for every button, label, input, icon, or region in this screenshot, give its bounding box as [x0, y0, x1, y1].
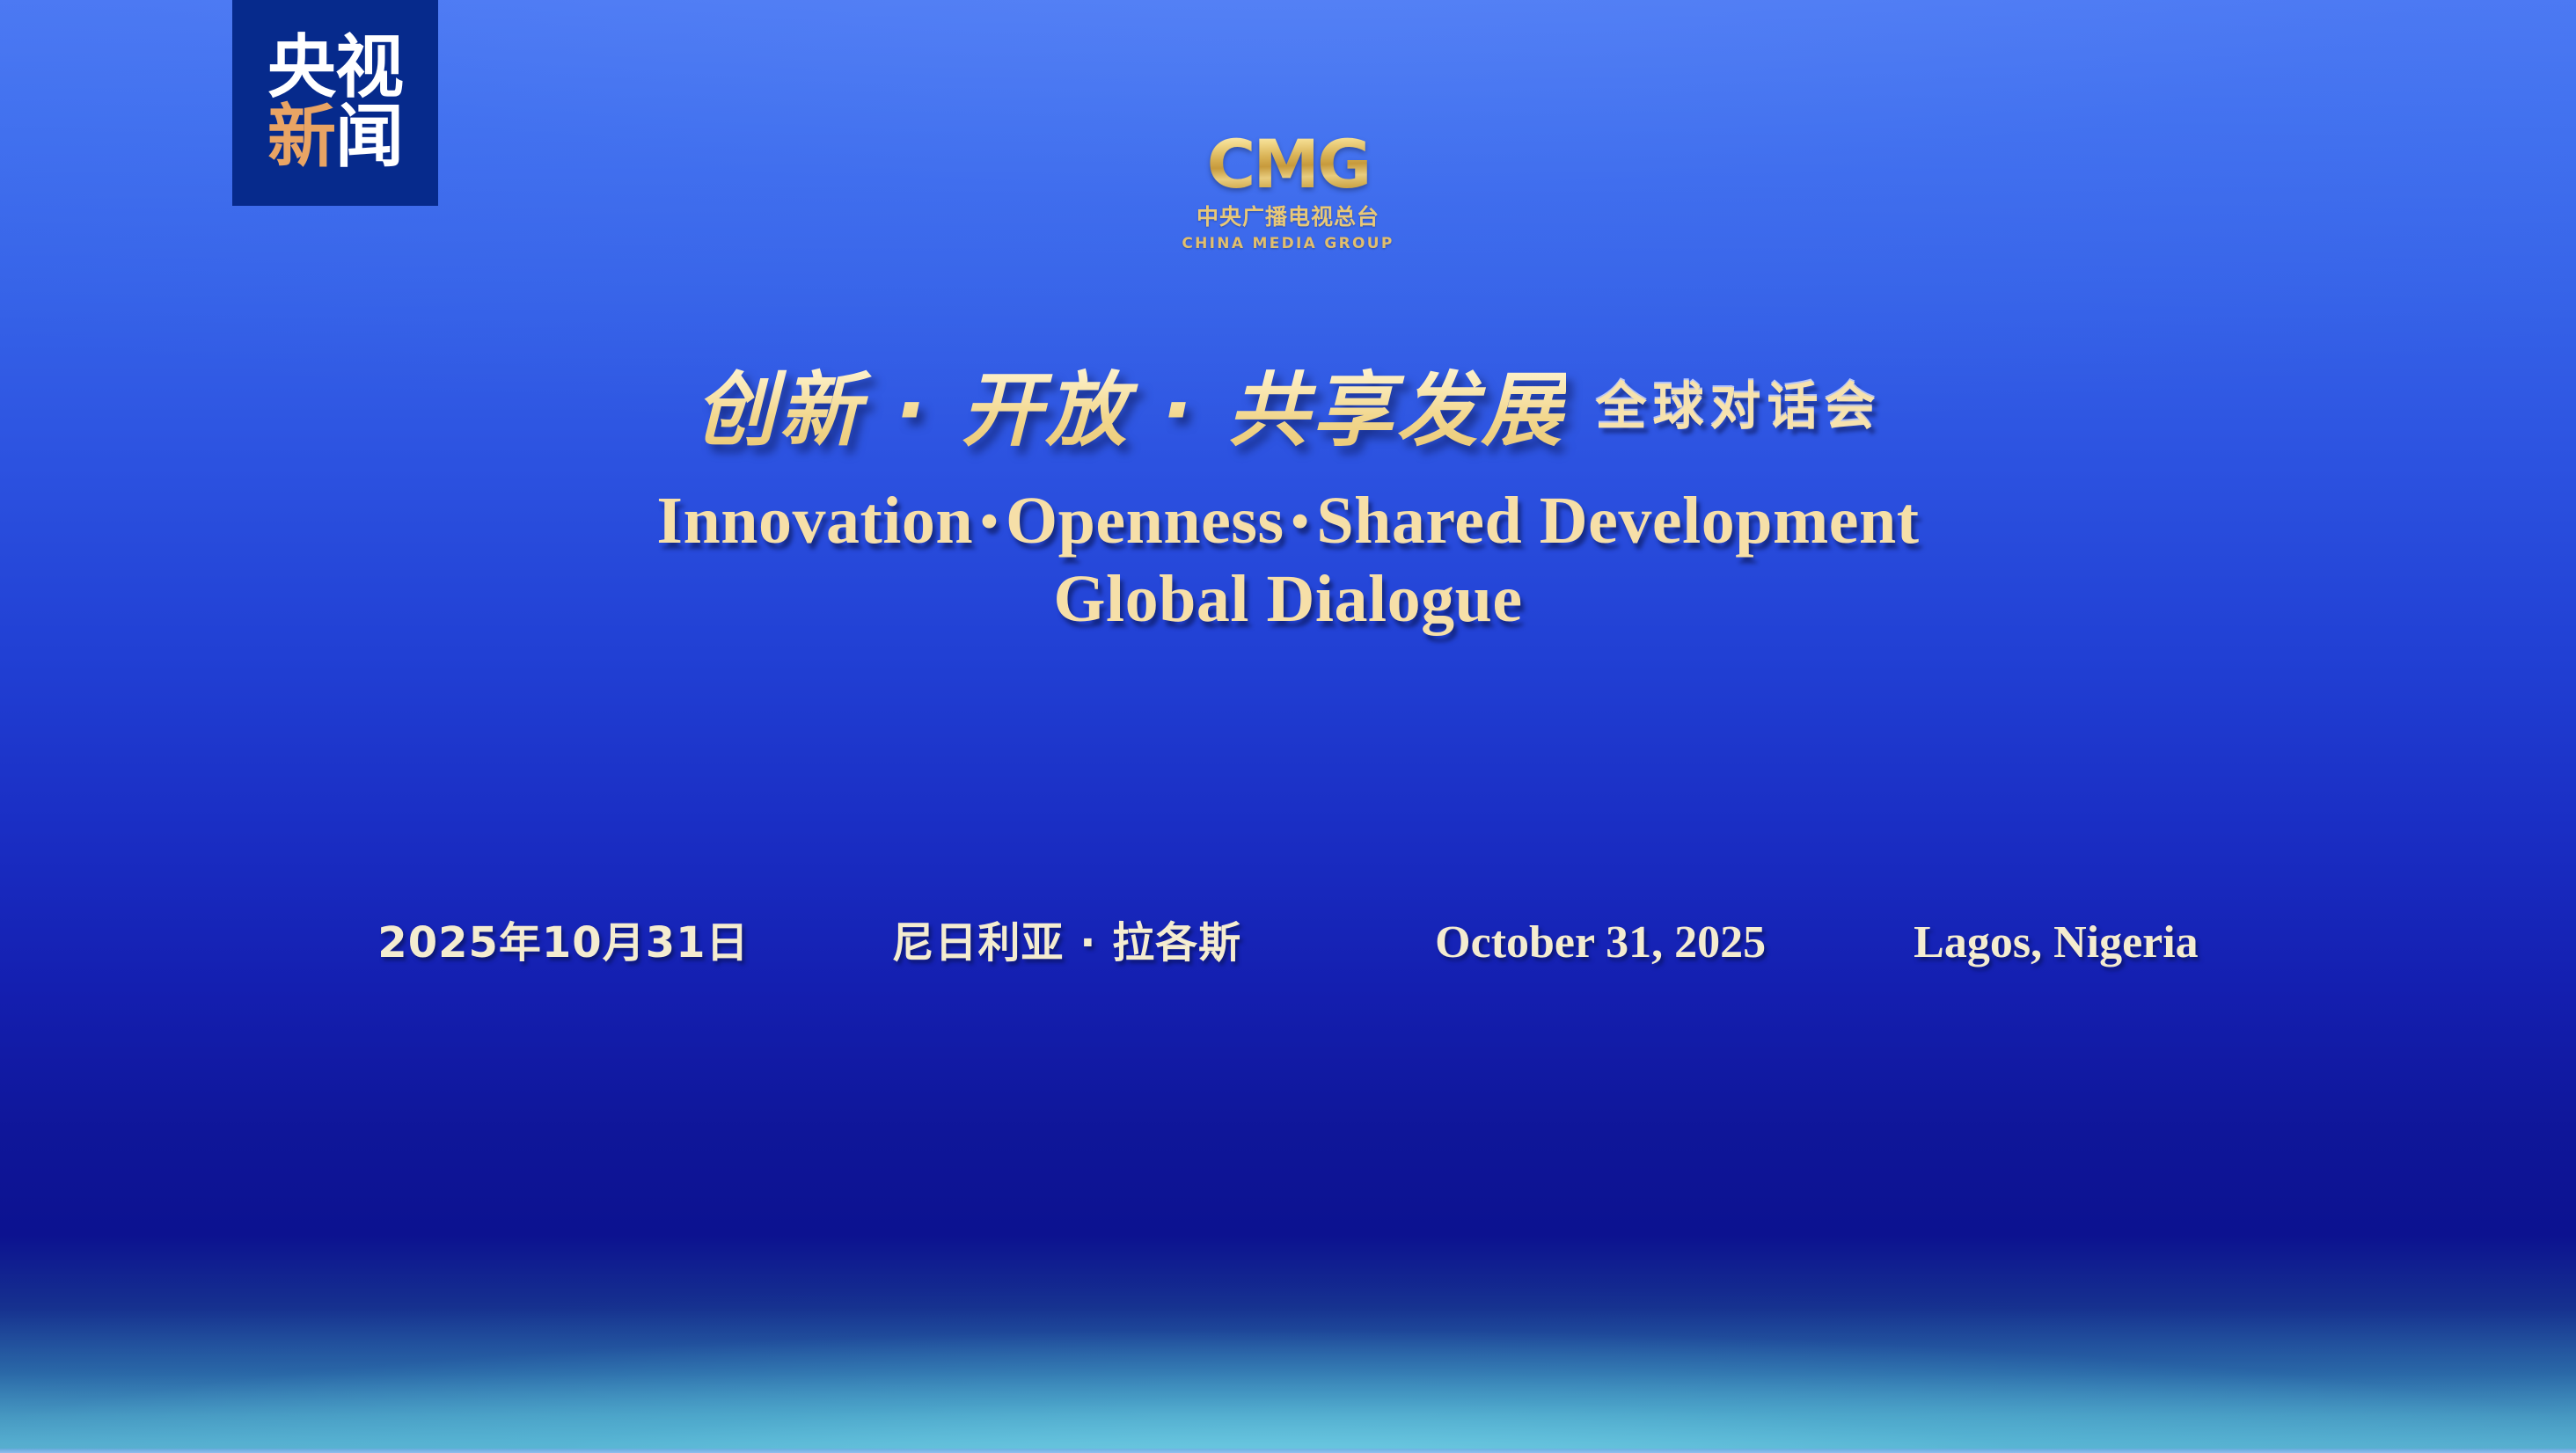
cctv-news-logo: 央视 新闻	[232, 0, 438, 206]
bullet-separator-2: •	[1284, 493, 1317, 550]
bullet-separator-1: •	[973, 493, 1006, 550]
event-location-chinese: 尼日利亚 · 拉各斯	[892, 908, 1242, 969]
english-headline-openness: Openness	[1006, 484, 1284, 558]
english-headline-innovation: Innovation	[656, 484, 973, 558]
bottom-teal-glow	[0, 1251, 2576, 1453]
chinese-headline: 创新 · 开放 · 共享发展 全球对话会	[0, 345, 2576, 462]
cmg-chinese-name: 中央广播电视总台	[1156, 200, 1420, 231]
cmg-english-name: CHINA MEDIA GROUP	[1156, 235, 1420, 252]
event-date-chinese: 2025年10月31日	[377, 908, 749, 969]
event-date-english: October 31, 2025	[1435, 916, 1766, 968]
cmg-logo: CMG 中央广播电视总台 CHINA MEDIA GROUP	[1156, 134, 1420, 252]
cctv-logo-line1: 央视	[267, 35, 403, 101]
event-location-english: Lagos, Nigeria	[1914, 916, 2199, 968]
bottom-edge-highlight	[0, 1449, 2576, 1453]
english-headline-line1: Innovation•Openness•Shared Development	[0, 482, 2576, 560]
broadcast-title-card: 央视 新闻 CMG 中央广播电视总台 CHINA MEDIA GROUP 创新 …	[0, 0, 2576, 1453]
event-info-row: 2025年10月31日 尼日利亚 · 拉各斯 October 31, 2025 …	[0, 908, 2576, 969]
chinese-headline-sub: 全球对话会	[1596, 365, 1882, 442]
cmg-wordmark: CMG	[1156, 134, 1420, 195]
english-headline: Innovation•Openness•Shared Development G…	[0, 482, 2576, 639]
chinese-headline-main: 创新 · 开放 · 共享发展	[694, 345, 1565, 462]
cctv-logo-line2: 新闻	[267, 105, 403, 171]
cctv-logo-xin-char: 新	[267, 105, 335, 171]
cctv-logo-wen-char: 闻	[335, 105, 403, 171]
english-headline-shared-development: Shared Development	[1316, 484, 1919, 558]
english-headline-line2: Global Dialogue	[0, 560, 2576, 639]
